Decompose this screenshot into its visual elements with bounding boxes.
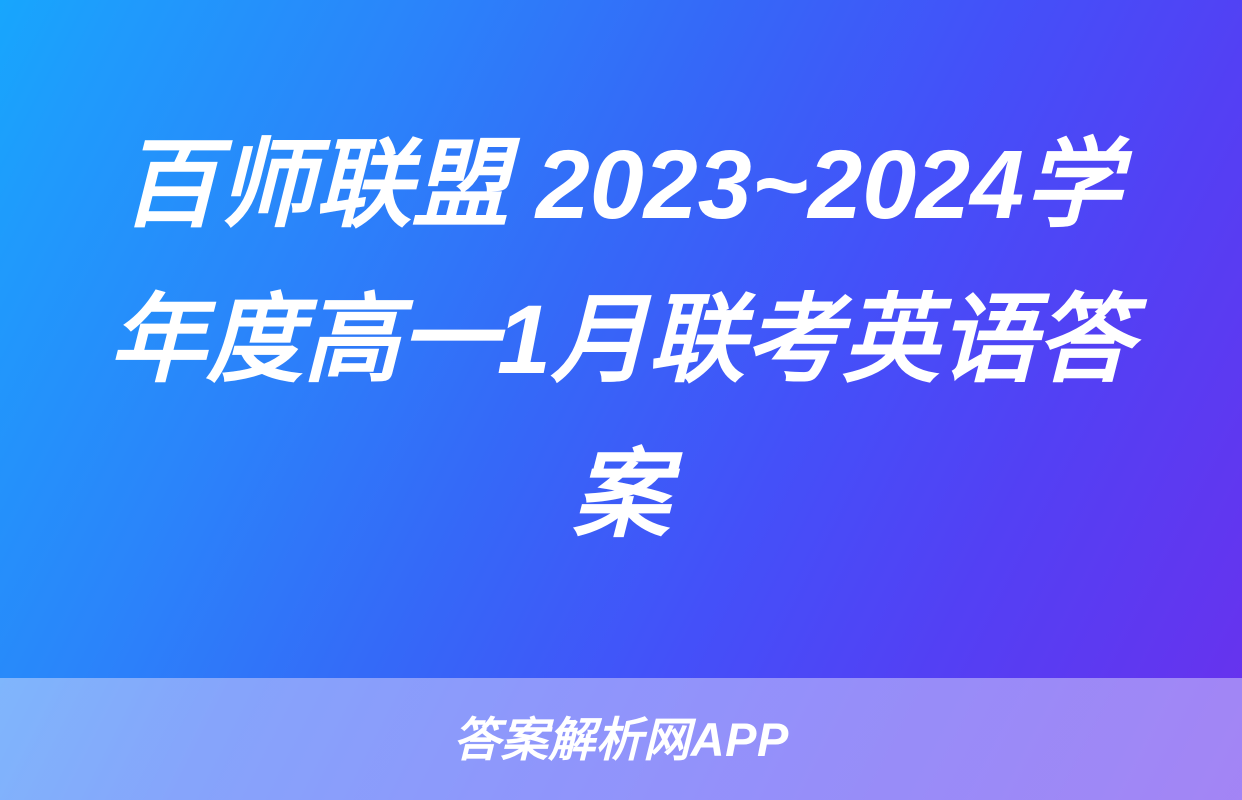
app-brand-wordmark[interactable]: 答案解析网APP [453,716,789,763]
title-area: 百师联盟 2023~2024学年度高一1月联考英语答案 [0,0,1242,678]
footer-area: 答案解析网APP [0,678,1242,800]
page-title: 百师联盟 2023~2024学年度高一1月联考英语答案 [78,107,1164,572]
banner-page: 百师联盟 2023~2024学年度高一1月联考英语答案 答案解析网APP [0,0,1242,800]
